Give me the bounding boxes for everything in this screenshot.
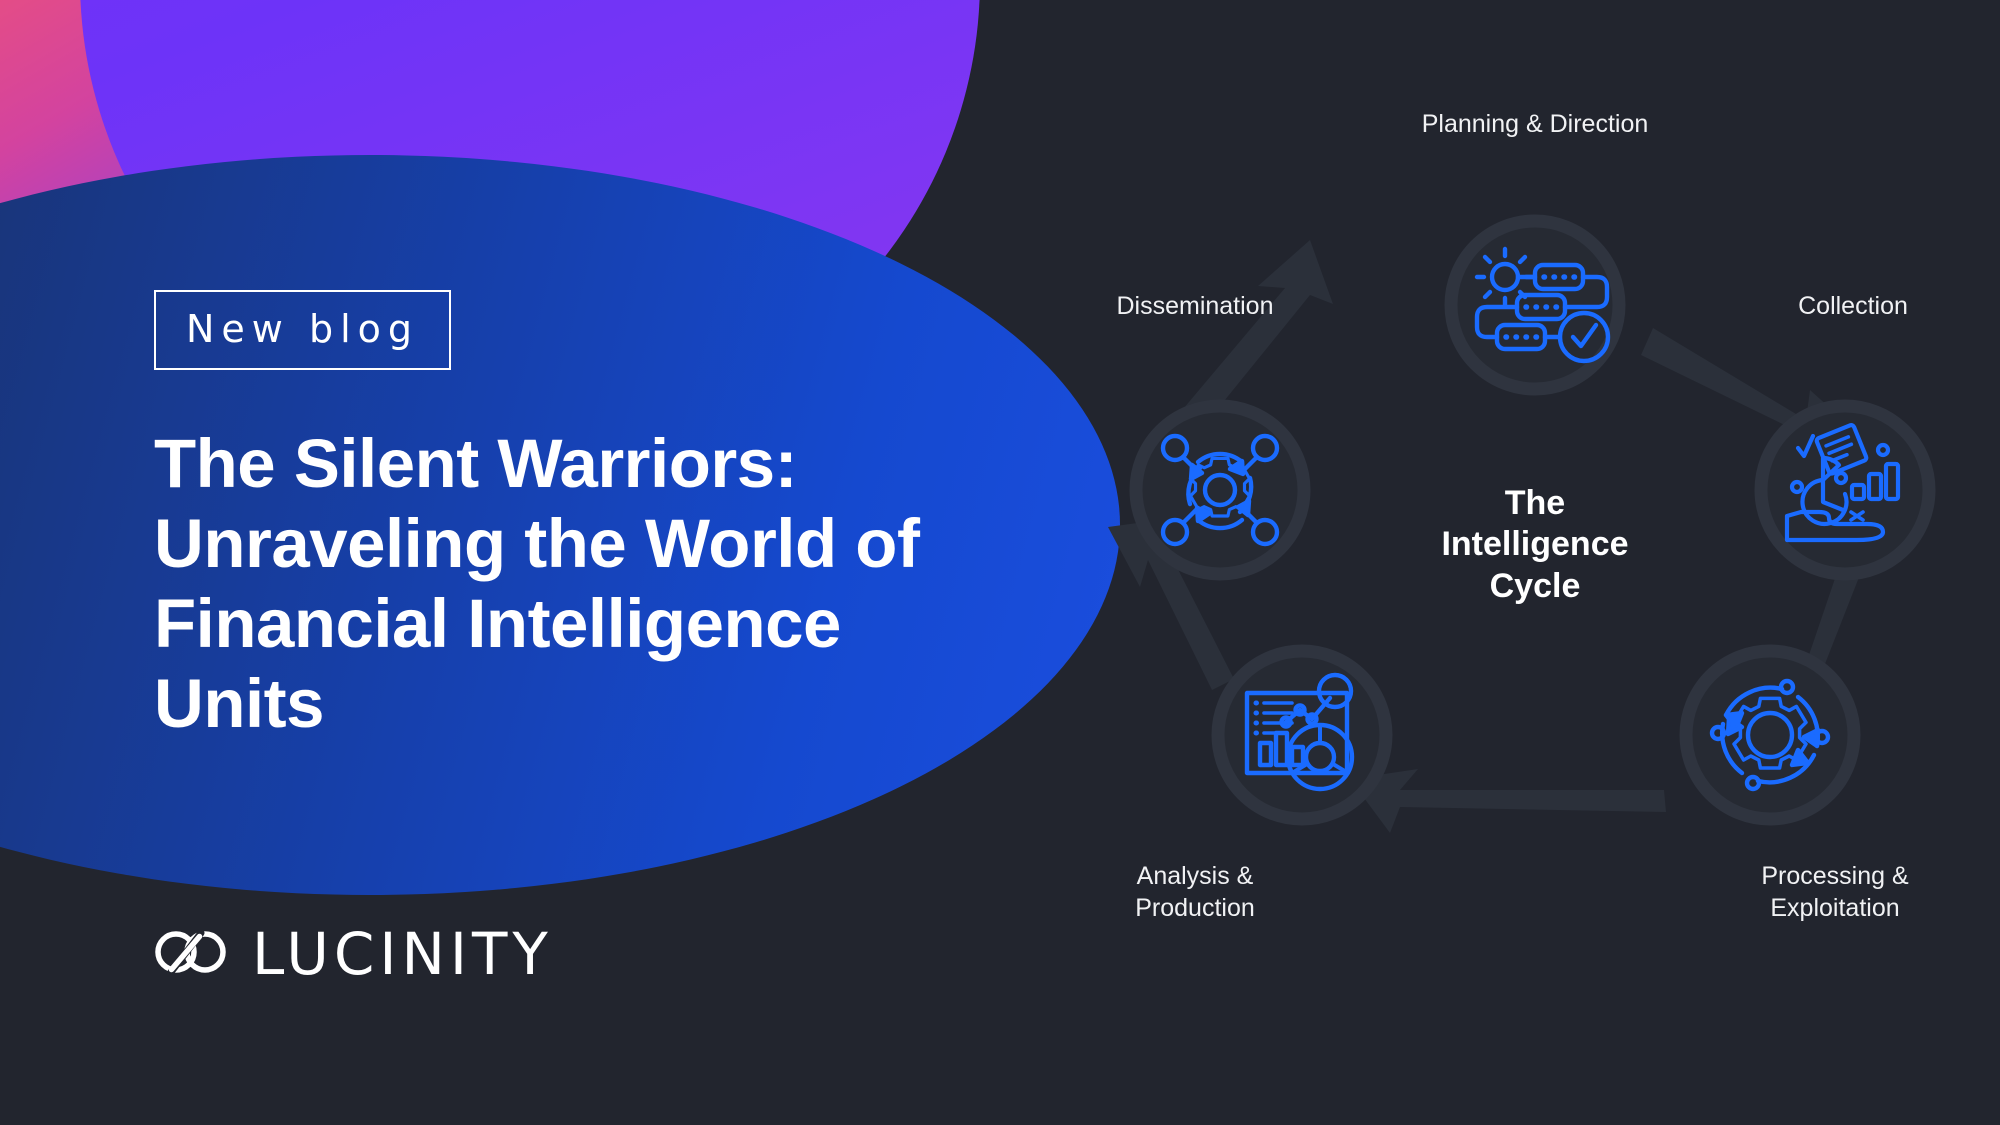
diagram-center-title: The Intelligence Cycle	[1365, 483, 1705, 607]
node-label-planning: Planning & Direction	[1375, 108, 1695, 140]
intelligence-cycle-diagram: The Intelligence Cycle Planning & Direct…	[1070, 90, 2000, 1090]
hero-content: New blog The Silent Warriors: Unraveling…	[154, 290, 984, 744]
cycle-node-dissemination[interactable]	[1136, 406, 1304, 574]
new-blog-badge: New blog	[154, 290, 451, 370]
page-title: The Silent Warriors: Unraveling the Worl…	[154, 424, 954, 744]
brand-wordmark: LUCINITY	[252, 925, 553, 983]
node-label-dissemination: Dissemination	[1055, 290, 1335, 322]
cycle-node-analysis[interactable]	[1218, 651, 1386, 819]
infinity-loop-icon	[154, 927, 228, 982]
hero-banner: New blog The Silent Warriors: Unraveling…	[0, 0, 2000, 1125]
node-label-analysis: Analysis & Production	[1065, 860, 1325, 924]
brand-logo: LUCINITY	[154, 925, 553, 983]
node-label-processing: Processing & Exploitation	[1705, 860, 1965, 924]
cycle-node-planning[interactable]	[1451, 221, 1619, 389]
node-label-collection: Collection	[1723, 290, 1983, 322]
dashboard-charts-icon	[1247, 675, 1352, 789]
cycle-node-collection[interactable]	[1761, 406, 1929, 574]
cycle-node-processing[interactable]	[1686, 651, 1854, 819]
